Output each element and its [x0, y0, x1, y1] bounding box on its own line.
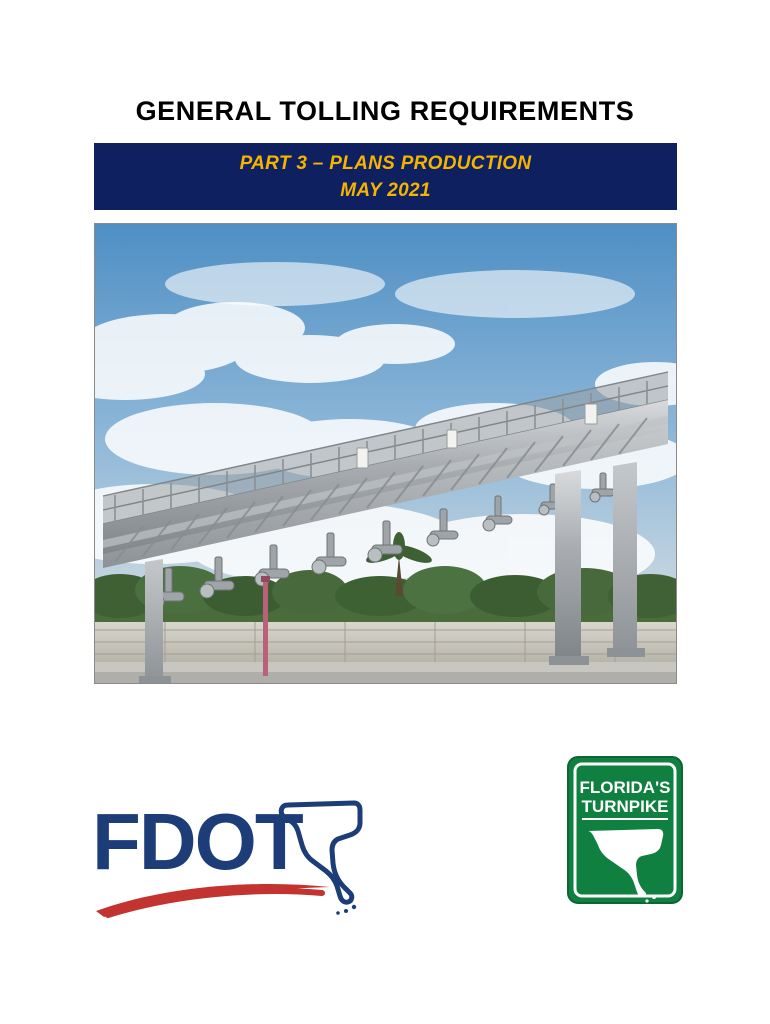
- florida-turnpike-shield-graphic: FLORIDA'S TURNPIKE: [566, 755, 684, 905]
- cover-photo: [94, 223, 677, 684]
- fdot-logo: FDOT: [92, 783, 382, 918]
- title-banner: PART 3 – PLANS PRODUCTION MAY 2021: [94, 143, 677, 210]
- turnpike-line2: TURNPIKE: [582, 797, 669, 816]
- fdot-logo-graphic: FDOT: [92, 783, 382, 918]
- page-title: GENERAL TOLLING REQUIREMENTS: [0, 96, 770, 127]
- document-page: GENERAL TOLLING REQUIREMENTS PART 3 – PL…: [0, 0, 770, 1024]
- turnpike-line1: FLORIDA'S: [580, 778, 671, 797]
- svg-text:FDOT: FDOT: [92, 797, 304, 886]
- turnpike-logo: FLORIDA'S TURNPIKE: [566, 755, 684, 905]
- banner-part-label: PART 3 – PLANS PRODUCTION: [240, 150, 532, 177]
- gantry-photo-illustration: [95, 224, 676, 683]
- banner-date-label: MAY 2021: [340, 177, 430, 204]
